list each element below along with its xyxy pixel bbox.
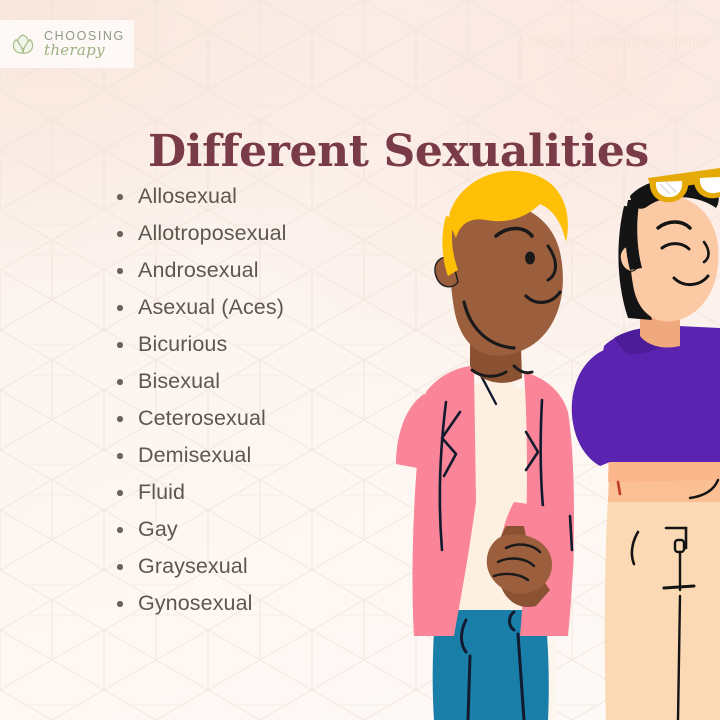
brand-logo[interactable]: CHOOSING therapy (0, 20, 134, 68)
list-item: Gynosexual (112, 585, 412, 622)
list-item: Bisexual (112, 363, 412, 400)
list-item: Bicurious (112, 326, 412, 363)
list-item: Gay (112, 511, 412, 548)
brand-name-script: therapy (44, 43, 125, 58)
list-item: Demisexual (112, 437, 412, 474)
list-item: Ceterosexual (112, 400, 412, 437)
guide-caption: A Guide to Different Sexualities (517, 34, 710, 49)
infographic-poster: CHOOSING therapy A Guide to Different Se… (0, 0, 720, 720)
list-item: Allotroposexual (112, 215, 412, 252)
list-item: Allosexual (112, 178, 412, 215)
list-item: Androsexual (112, 252, 412, 289)
right-figure (572, 168, 720, 720)
list-item: Fluid (112, 474, 412, 511)
list-item: Graysexual (112, 548, 412, 585)
sexualities-list: Allosexual Allotroposexual Androsexual A… (112, 178, 412, 622)
list-item: Asexual (Aces) (112, 289, 412, 326)
sunglasses-icon (648, 168, 720, 202)
lotus-leaf-icon (8, 29, 38, 59)
left-figure (396, 171, 574, 720)
page-title: Different Sexualities (148, 126, 649, 177)
brand-wordmark: CHOOSING therapy (44, 30, 125, 59)
